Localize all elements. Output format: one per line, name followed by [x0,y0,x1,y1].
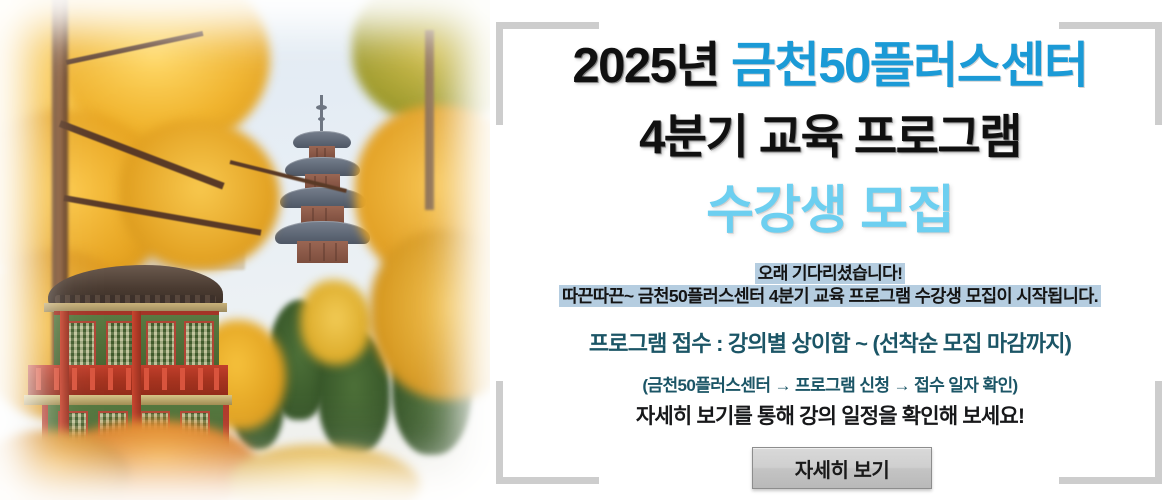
corner-bracket-bottom-right [1059,381,1162,484]
title-line-3: 수강생 모집 [490,168,1170,243]
pagoda-spire [320,95,323,133]
autumn-palace-photo [0,0,490,500]
pagoda-body-4 [297,241,348,263]
cta-text: 자세히 보기를 통해 강의 일정을 확인해 보세요! [490,400,1170,430]
pagoda-finial-lower [318,117,325,121]
pagoda-roof-3 [280,187,366,208]
ginkgo-mass-2 [300,280,372,365]
detail-view-button-label: 자세히 보기 [795,454,890,483]
text-pane: 2025년 금천50플러스센터 4분기 교육 프로그램 수강생 모집 오래 기다… [490,0,1170,500]
corner-bracket-bottom-left [496,381,599,484]
title-line-1: 2025년 금천50플러스센터 [490,26,1170,97]
pavilion-balcony [28,365,228,399]
promo-banner: 2025년 금천50플러스센터 4분기 교육 프로그램 수강생 모집 오래 기다… [0,0,1170,500]
left-canopy-4 [120,120,280,270]
navigation-path-info: (금천50플러스센터 → 프로그램 신청 → 접수 일자 확인) [490,371,1170,396]
highlight-line-2-wrap: 따끈따끈~ 금천50플러스센터 4분기 교육 프로그램 수강생 모집이 시작됩니… [490,283,1170,308]
right-trunk [425,30,434,210]
detail-view-button[interactable]: 자세히 보기 [752,447,932,489]
pagoda-finial [316,105,327,110]
pavilion-floor-band [24,395,232,405]
title-year: 2025년 [572,39,731,93]
highlight-line-1-wrap: 오래 기다리셨습니다! [490,259,1170,284]
title-center-name: 금천50플러스센터 [731,39,1088,93]
highlight-line-1: 오래 기다리셨습니다! [755,263,906,284]
title-line-2: 4분기 교육 프로그램 [490,98,1170,167]
highlight-line-2: 따끈따끈~ 금천50플러스센터 4분기 교육 프로그램 수강생 모집이 시작됩니… [559,285,1101,307]
acceptance-info: 프로그램 접수 : 강의별 상이함 ~ (선착순 모집 마감까지) [490,326,1170,358]
pavilion-roof [48,265,223,307]
